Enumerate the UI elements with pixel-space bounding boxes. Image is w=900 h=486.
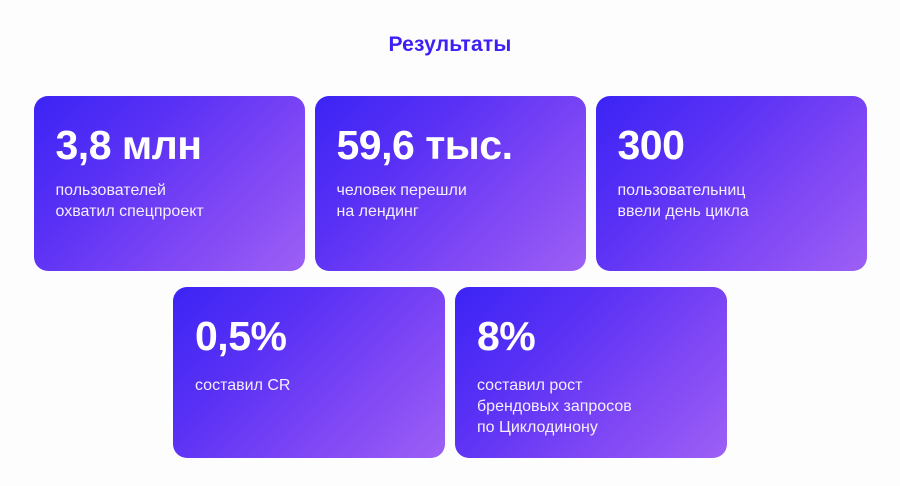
metric-description: человек перешли на лендинг xyxy=(337,180,564,222)
metric-description: составил рост брендовых запросов по Цикл… xyxy=(477,375,705,438)
metrics-row-bottom: 0,5% составил CR 8% составил рост брендо… xyxy=(173,287,727,458)
metrics-cards-area: 3,8 млн пользователей охватил спецпроект… xyxy=(0,96,900,458)
metric-description: пользователей охватил спецпроект xyxy=(56,180,283,222)
metric-card-cr: 0,5% составил CR xyxy=(173,287,445,458)
metric-value: 300 xyxy=(618,122,845,168)
metric-card-cycle-day: 300 пользовательниц ввели день цикла xyxy=(596,96,867,271)
metric-value: 59,6 тыс. xyxy=(337,122,564,168)
metric-description: составил CR xyxy=(195,375,423,396)
metric-value: 0,5% xyxy=(195,313,423,359)
results-slide: Результаты 3,8 млн пользователей охватил… xyxy=(0,0,900,486)
page-title: Результаты xyxy=(0,32,900,58)
metric-card-reach: 3,8 млн пользователей охватил спецпроект xyxy=(34,96,305,271)
metric-card-brand-queries: 8% составил рост брендовых запросов по Ц… xyxy=(455,287,727,458)
metric-description: пользовательниц ввели день цикла xyxy=(618,180,845,222)
metric-value: 8% xyxy=(477,313,705,359)
metric-value: 3,8 млн xyxy=(56,122,283,168)
metrics-row-top: 3,8 млн пользователей охватил спецпроект… xyxy=(33,96,867,271)
metric-card-landing-visits: 59,6 тыс. человек перешли на лендинг xyxy=(315,96,586,271)
